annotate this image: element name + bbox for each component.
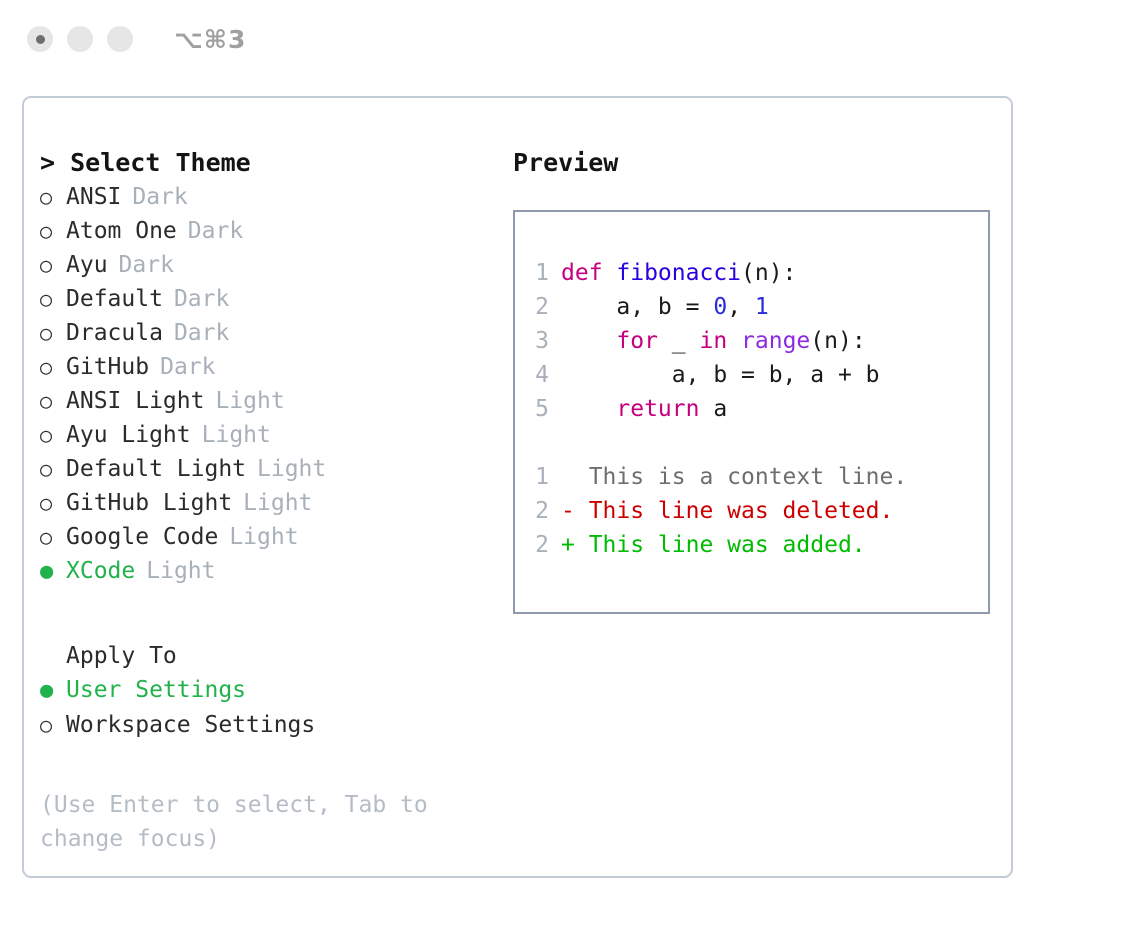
diff-line: 2- This line was deleted. [515,494,988,528]
code-line-content: for _ in range(n): [561,324,866,358]
theme-name: Dracula [66,316,163,350]
radio-unselected-icon[interactable]: ○ [40,350,66,384]
theme-list-item[interactable]: ○Atom OneDark [40,214,494,248]
code-line-content: def fibonacci(n): [561,256,796,290]
radio-unselected-icon[interactable]: ○ [40,708,66,742]
radio-unselected-icon[interactable]: ○ [40,418,66,452]
theme-name: Ayu Light [66,418,191,452]
line-number: 3 [515,324,561,358]
theme-name: GitHub [66,350,149,384]
app-window: ⌥⌘3 > Select Theme ○ANSIDark○Atom OneDar… [0,0,1140,934]
code-token-kw: def [561,260,616,286]
theme-kind-badge: Dark [119,248,174,282]
code-token-pl: _ [658,328,700,354]
apply-to-label: Workspace Settings [66,708,315,742]
radio-selected-icon[interactable]: ● [40,555,66,589]
radio-unselected-icon[interactable]: ○ [40,486,66,520]
theme-list-item[interactable]: ○GitHubDark [40,350,494,384]
code-token-kw: for [616,328,658,354]
theme-kind-badge: Light [243,486,312,520]
code-line-content: a, b = b, a + b [561,358,880,392]
code-line: 1def fibonacci(n): [515,256,988,290]
line-number: 2 [515,528,561,562]
theme-kind-badge: Light [229,520,298,554]
theme-kind-badge: Dark [174,282,229,316]
radio-unselected-icon[interactable]: ○ [40,384,66,418]
theme-list-item[interactable]: ○Default LightLight [40,452,494,486]
theme-kind-badge: Light [146,554,215,588]
theme-kind-badge: Dark [174,316,229,350]
radio-unselected-icon[interactable]: ○ [40,316,66,350]
theme-list-item[interactable]: ○Ayu LightLight [40,418,494,452]
theme-list-item[interactable]: ○ANSIDark [40,180,494,214]
keyboard-shortcut-label: ⌥⌘3 [174,25,246,54]
radio-unselected-icon[interactable]: ○ [40,180,66,214]
line-number: 1 [515,460,561,494]
theme-list-item[interactable]: ○DefaultDark [40,282,494,316]
preview-heading: Preview [502,146,1011,180]
main-card: > Select Theme ○ANSIDark○Atom OneDark○Ay… [22,96,1013,878]
theme-kind-badge: Dark [160,350,215,384]
preview-box: 1def fibonacci(n):2 a, b = 0, 13 for _ i… [513,210,990,614]
code-token-call: range [741,328,810,354]
apply-to-list: ●User Settings○Workspace Settings [40,673,494,742]
code-line: 3 for _ in range(n): [515,324,988,358]
radio-unselected-icon[interactable]: ○ [40,282,66,316]
theme-kind-badge: Light [257,452,326,486]
line-number: 5 [515,392,561,426]
line-number: 4 [515,358,561,392]
apply-to-item[interactable]: ●User Settings [40,673,494,708]
line-number: 2 [515,494,561,528]
radio-unselected-icon[interactable]: ○ [40,214,66,248]
radio-unselected-icon[interactable]: ○ [40,452,66,486]
theme-kind-badge: Light [215,384,284,418]
theme-name: ANSI Light [66,384,204,418]
title-bar: ⌥⌘3 [0,0,1140,78]
line-number: 2 [515,290,561,324]
theme-name: GitHub Light [66,486,232,520]
theme-kind-badge: Light [202,418,271,452]
select-theme-heading: > Select Theme [40,146,494,180]
traffic-lights [27,26,133,52]
theme-list-item[interactable]: ○DraculaDark [40,316,494,350]
theme-name: Ayu [66,248,108,282]
theme-name: Default Light [66,452,246,486]
theme-list-item[interactable]: ○ANSI LightLight [40,384,494,418]
theme-list-item[interactable]: ○AyuDark [40,248,494,282]
theme-list: ○ANSIDark○Atom OneDark○AyuDark○DefaultDa… [40,180,494,589]
code-token-pl: a, b = b, a + b [561,362,880,388]
theme-name: Default [66,282,163,316]
code-token-num: 1 [755,294,769,320]
diff-line-content: + This line was added. [561,528,866,562]
code-token-pl [561,396,616,422]
diff-line: 2+ This line was added. [515,528,988,562]
apply-to-heading: Apply To [40,639,494,673]
theme-list-item[interactable]: ○Google CodeLight [40,520,494,554]
radio-selected-icon[interactable]: ● [40,674,66,708]
code-token-pl: a [699,396,727,422]
code-line: 5 return a [515,392,988,426]
theme-selection-pane: > Select Theme ○ANSIDark○Atom OneDark○Ay… [24,98,494,876]
radio-unselected-icon[interactable]: ○ [40,248,66,282]
diff-line: 1 This is a context line. [515,460,988,494]
code-token-num: 0 [713,294,727,320]
code-sample: 1def fibonacci(n):2 a, b = 0, 13 for _ i… [515,256,988,426]
code-token-pl: , [727,294,755,320]
line-number: 1 [515,256,561,290]
code-line-content: a, b = 0, 1 [561,290,769,324]
code-line-content: return a [561,392,727,426]
theme-name: Atom One [66,214,177,248]
code-token-pl: (n): [810,328,865,354]
theme-name: XCode [66,554,135,588]
diff-sample: 1 This is a context line.2- This line wa… [515,460,988,562]
theme-list-item[interactable]: ●XCodeLight [40,554,494,589]
code-token-pl [727,328,741,354]
traffic-light-2-icon[interactable] [67,26,93,52]
diff-line-content: This is a context line. [561,460,907,494]
code-token-pl: (n): [741,260,796,286]
theme-kind-badge: Dark [132,180,187,214]
traffic-light-3-icon[interactable] [107,26,133,52]
code-line: 4 a, b = b, a + b [515,358,988,392]
traffic-light-dot-inner [36,35,45,44]
apply-to-label: User Settings [66,673,246,707]
apply-to-item[interactable]: ○Workspace Settings [40,708,494,742]
theme-kind-badge: Dark [188,214,243,248]
traffic-light-active-icon[interactable] [27,26,53,52]
theme-name: Google Code [66,520,218,554]
keyboard-hint-text: (Use Enter to select, Tab to change focu… [40,788,440,856]
theme-list-item[interactable]: ○GitHub LightLight [40,486,494,520]
preview-pane: Preview 1def fibonacci(n):2 a, b = 0, 13… [494,98,1011,876]
code-token-fn: fibonacci [616,260,741,286]
diff-line-content: - This line was deleted. [561,494,893,528]
code-token-pl [561,328,616,354]
code-line: 2 a, b = 0, 1 [515,290,988,324]
code-token-kw: return [616,396,699,422]
radio-unselected-icon[interactable]: ○ [40,520,66,554]
code-token-pl: a, b = [561,294,713,320]
theme-name: ANSI [66,180,121,214]
code-token-kw: in [699,328,727,354]
